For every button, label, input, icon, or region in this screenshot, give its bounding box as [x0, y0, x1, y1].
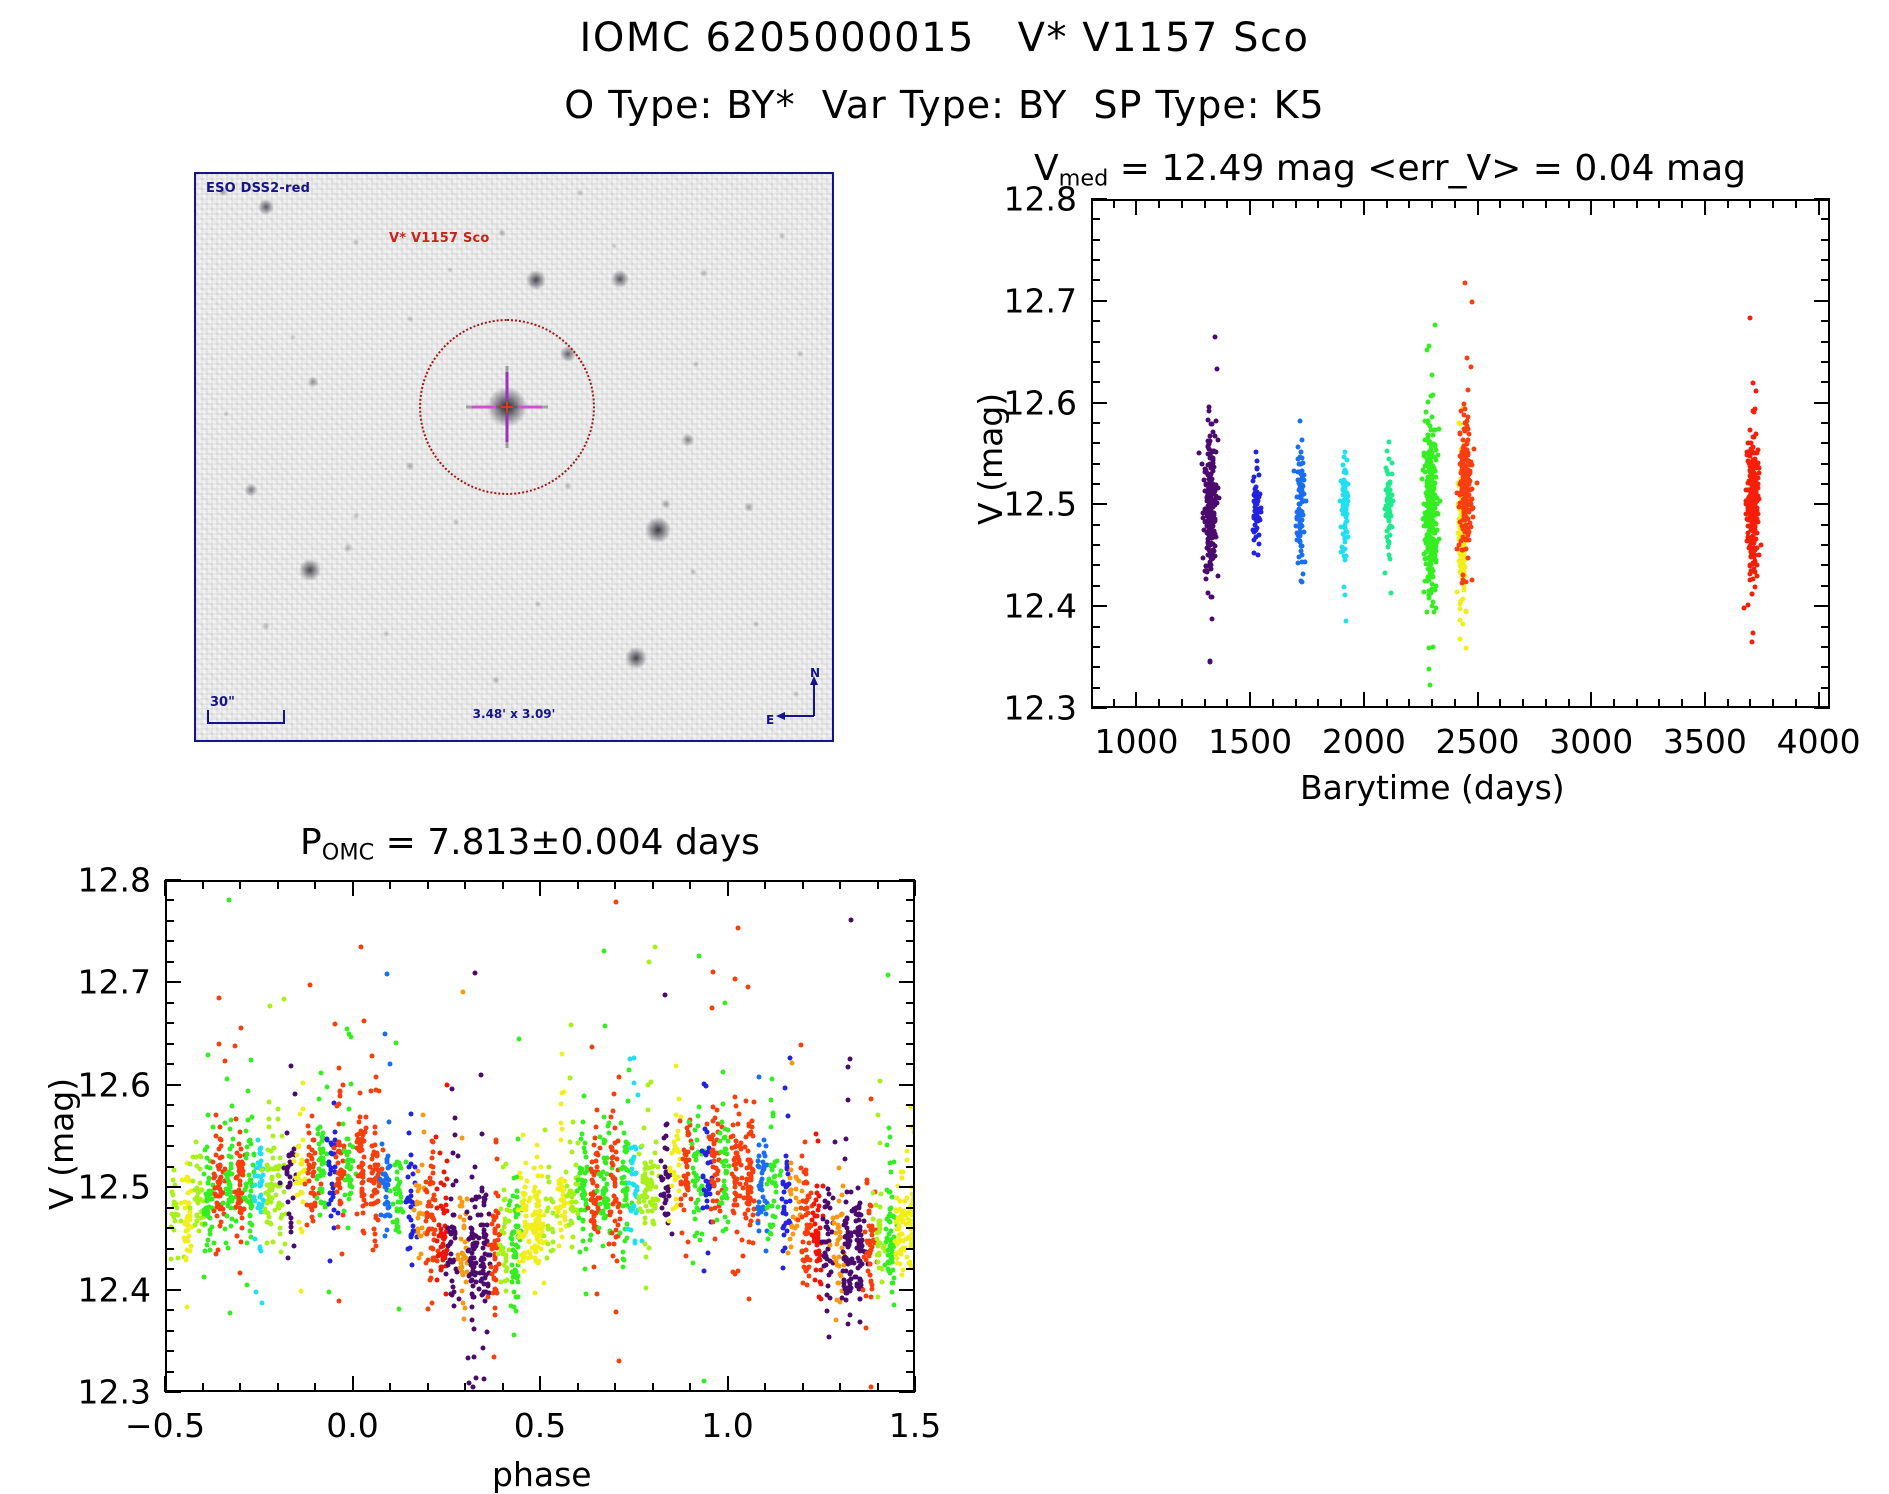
- lightcurve-title-subscript: med: [1059, 166, 1109, 192]
- phase-title: POMC = 7.813±0.004 days: [170, 822, 890, 866]
- survey-label: ESO DSS2-red: [206, 181, 310, 196]
- phase-title-subscript: OMC: [322, 840, 374, 866]
- target-label: V* V1157 Sco: [389, 231, 490, 246]
- phase-ylabel: V (mag): [42, 1078, 81, 1210]
- page-title: IOMC 6205000015 V* V1157 Sco O Type: BY*…: [0, 18, 1889, 124]
- lightcurve-title-prefix: V: [1034, 148, 1059, 189]
- phase-xlabel: phase: [492, 1455, 592, 1494]
- phase-title-prefix: P: [300, 822, 322, 863]
- phase-axes-frame: [165, 880, 915, 1392]
- scale-bar-label: 30": [210, 695, 235, 710]
- header-line-1: IOMC 6205000015 V* V1157 Sco: [0, 18, 1889, 58]
- lightcurve-title: Vmed = 12.49 mag <err_V> = 0.04 mag: [1010, 148, 1770, 192]
- lightcurve-axes-frame: [1091, 199, 1830, 708]
- compass-rose-icon: N E: [768, 670, 820, 724]
- finding-chart[interactable]: ESO DSS2-red V* V1157 Sco 30" 3.48' x 3.…: [194, 172, 834, 742]
- field-dimensions-label: 3.48' x 3.09': [473, 707, 556, 721]
- target-circle: [419, 319, 595, 495]
- header-line-2: O Type: BY* Var Type: BY SP Type: K5: [0, 86, 1889, 124]
- lightcurve-xlabel: Barytime (days): [1300, 768, 1565, 807]
- lightcurve-ylabel: V (mag): [971, 393, 1010, 525]
- compass-east-label: E: [766, 713, 774, 727]
- phase-title-rest: = 7.813±0.004 days: [374, 822, 760, 863]
- scale-bar: [207, 710, 285, 724]
- compass-north-label: N: [810, 666, 820, 680]
- lightcurve-title-rest: = 12.49 mag <err_V> = 0.04 mag: [1108, 148, 1746, 189]
